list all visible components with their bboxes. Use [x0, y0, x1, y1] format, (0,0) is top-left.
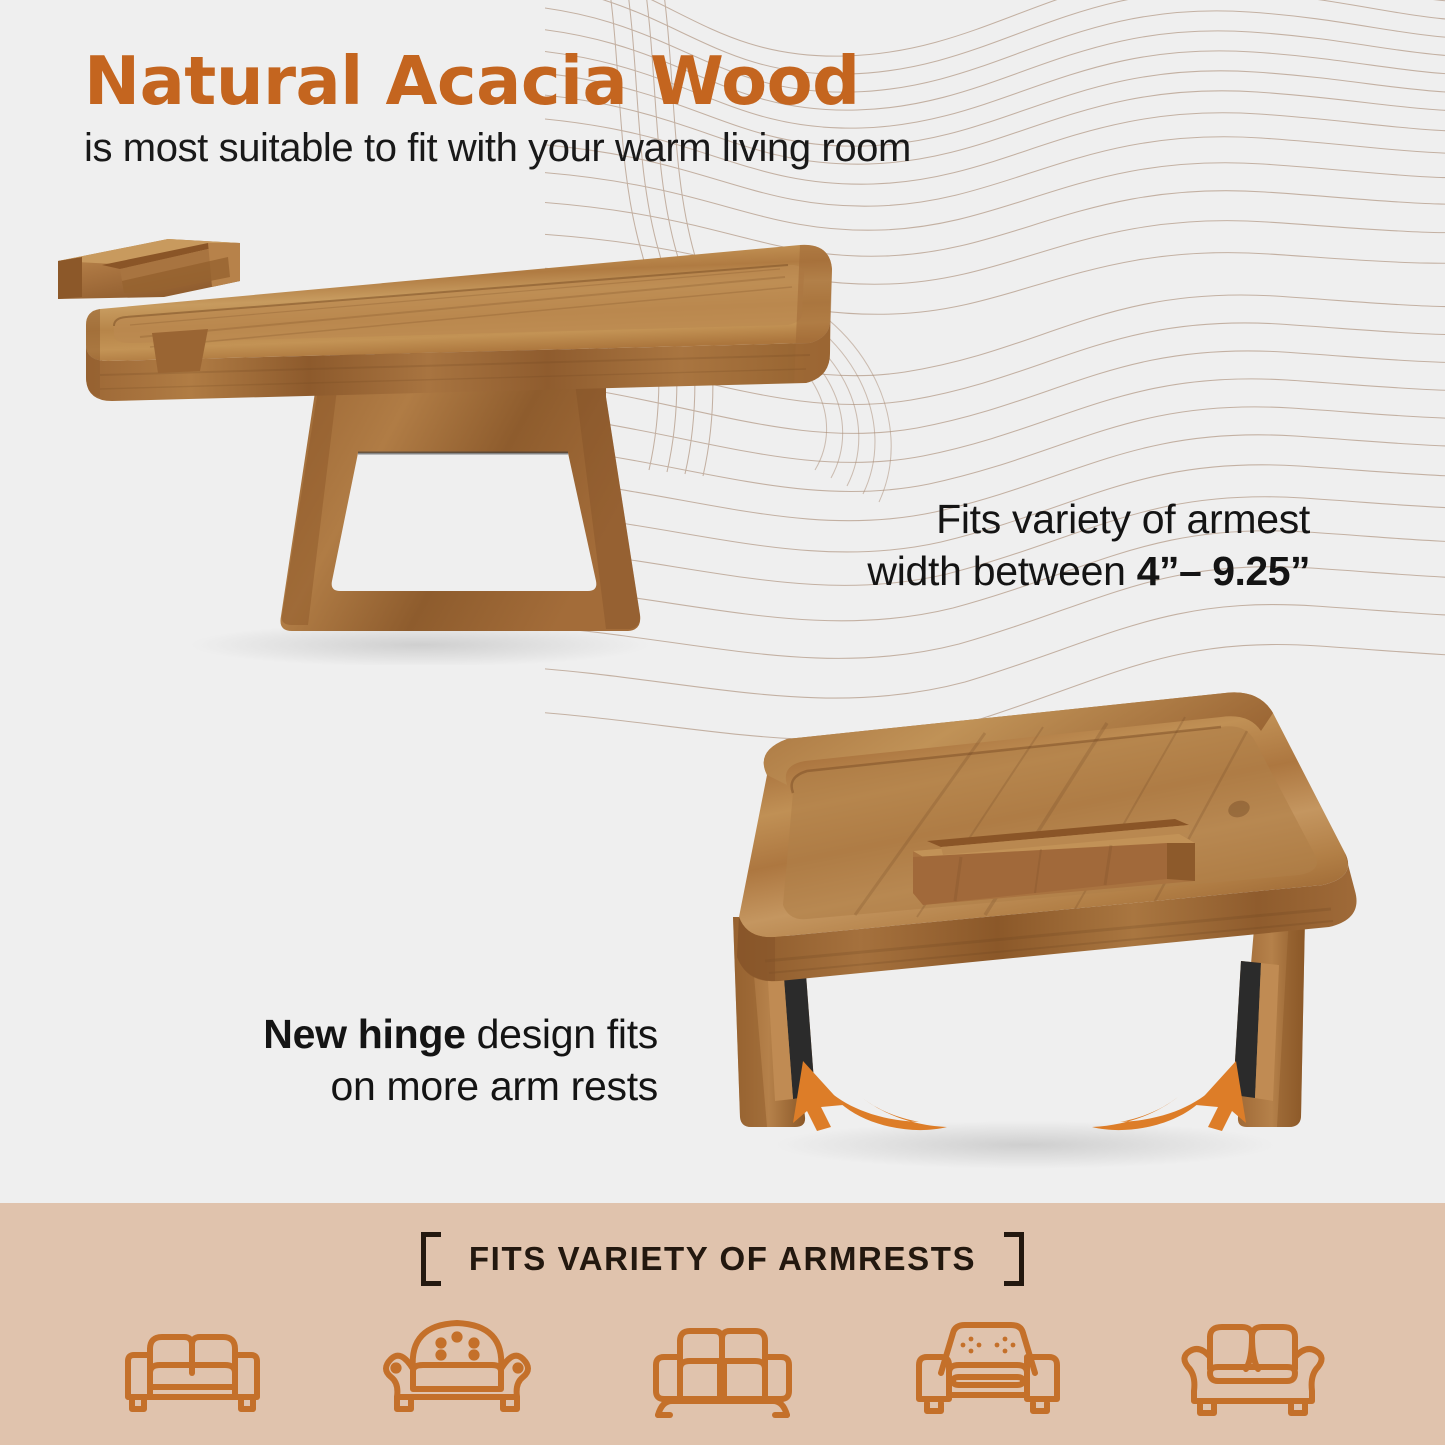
- sofa-icon-row: [0, 1311, 1445, 1429]
- callout-armrest-measurement: 4”– 9.25”: [1137, 548, 1310, 594]
- sofa-flared-back-icon: [905, 1311, 1070, 1429]
- callout-new-hinge: New hinge design fits on more arm rests: [263, 1008, 658, 1113]
- sofa-tufted-armchair-icon: [375, 1311, 540, 1429]
- bracket-left-icon: [421, 1232, 441, 1286]
- bracket-right-icon: [1004, 1232, 1024, 1286]
- callout-armrest-line1: Fits variety of armest: [867, 494, 1310, 546]
- product-infographic: Natural Acacia Wood is most suitable to …: [0, 0, 1445, 1445]
- callout-hinge-rest: design fits: [466, 1011, 658, 1057]
- page-title: Natural Acacia Wood: [84, 47, 1084, 117]
- banner-heading-row: FITS VARIETY OF ARMRESTS: [0, 1232, 1445, 1286]
- arrow-right: [1092, 1061, 1246, 1131]
- banner-title: FITS VARIETY OF ARMRESTS: [469, 1240, 976, 1278]
- headline-block: Natural Acacia Wood is most suitable to …: [84, 47, 1084, 170]
- armrest-compatibility-banner: FITS VARIETY OF ARMRESTS: [0, 1203, 1445, 1445]
- sofa-rolled-arm-icon: [1170, 1311, 1335, 1429]
- callout-armrest-line2: width between 4”– 9.25”: [867, 546, 1310, 598]
- callout-hinge-line2: on more arm rests: [263, 1060, 658, 1112]
- product-image-tray-angled-view: [655, 665, 1385, 1175]
- sofa-loveseat-icon: [110, 1311, 275, 1429]
- sofa-modern-loveseat-icon: [640, 1311, 805, 1429]
- page-subtitle: is most suitable to fit with your warm l…: [84, 126, 1084, 171]
- callout-armrest-width: Fits variety of armest width between 4”–…: [867, 494, 1310, 597]
- callout-armrest-prefix: width between: [867, 548, 1136, 594]
- callout-hinge-line1: New hinge design fits: [263, 1008, 658, 1060]
- callout-hinge-emphasis: New hinge: [263, 1011, 465, 1057]
- arrow-left: [793, 1061, 947, 1131]
- product-image-tray-side-view: [40, 225, 850, 665]
